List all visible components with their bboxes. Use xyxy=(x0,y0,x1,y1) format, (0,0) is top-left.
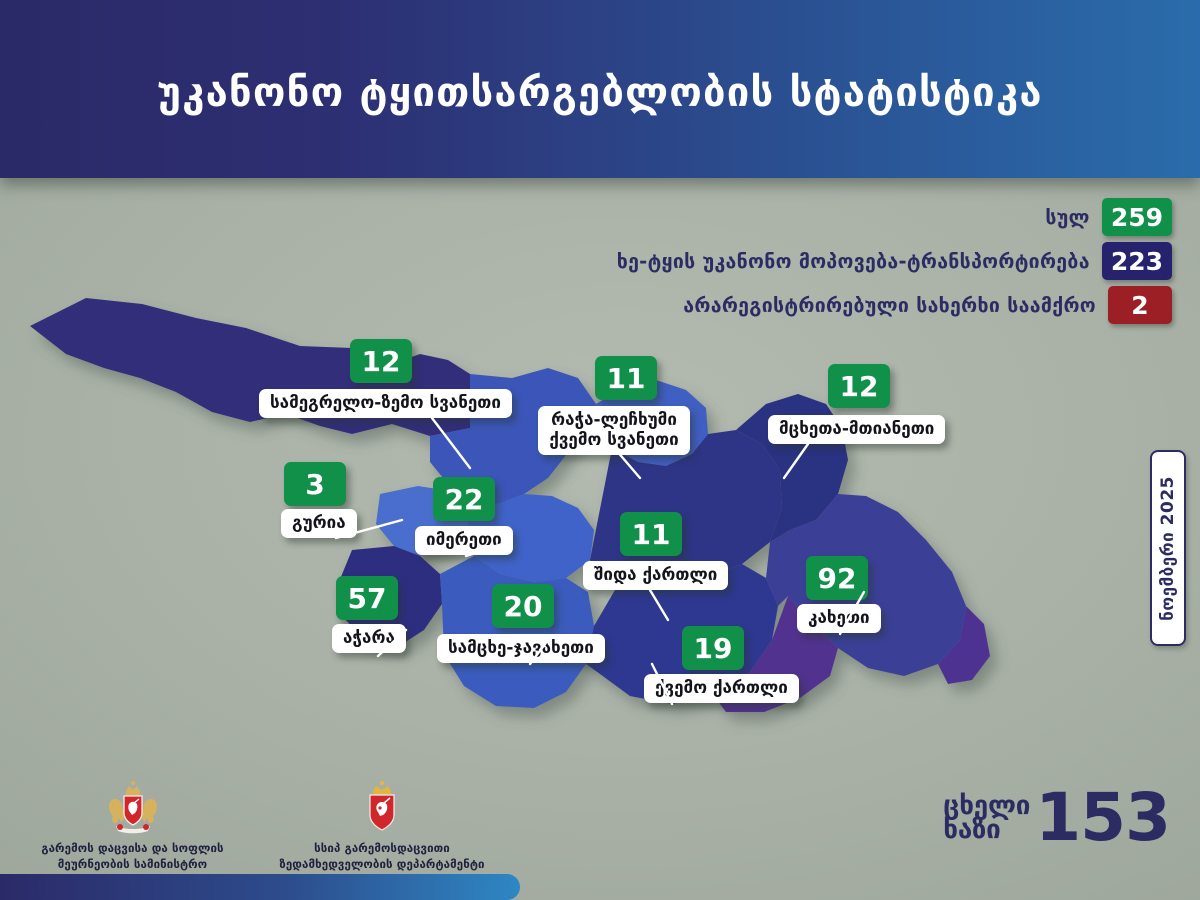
region-label-adjara: აჭარა xyxy=(332,624,406,653)
region-label-samegrelo: სამეგრელო-ზემო სვანეთი xyxy=(259,389,512,418)
region-label-shida-kartli: შიდა ქართლი xyxy=(583,561,728,590)
date-badge: ნოემბერი 2025 xyxy=(1150,450,1186,646)
ministry-caption-line2: მეურნეობის სამინისტრო xyxy=(25,856,240,872)
region-label-guria: გურია xyxy=(281,509,357,538)
ministry-caption: გარემოს დაცვისა და სოფლის მეურნეობის სამ… xyxy=(25,840,240,873)
ministry-caption-line1: გარემოს დაცვისა და სოფლის xyxy=(25,840,240,856)
map-svg xyxy=(0,178,1200,778)
date-badge-text: ნოემბერი 2025 xyxy=(1158,476,1178,621)
region-label-imereti: იმერეთი xyxy=(415,526,513,555)
department-caption-line1: სსიპ გარემოსდაცვითი xyxy=(268,840,496,856)
region-label-mtskheta: მცხეთა-მთიანეთი xyxy=(768,415,945,444)
bottom-accent-bar xyxy=(0,874,520,900)
region-label-racha: რაჭა-ლეჩხუმი ქვემო სვანეთი xyxy=(538,406,690,455)
value-chip-samtskhe: 20 xyxy=(492,584,554,628)
region-label-racha-line2: ქვემო სვანეთი xyxy=(549,430,678,450)
georgia-map: 12 სამეგრელო-ზემო სვანეთი 11 რაჭა-ლეჩხუმ… xyxy=(0,178,1200,778)
ministry-block: გარემოს დაცვისა და სოფლის მეურნეობის სამ… xyxy=(25,778,240,873)
region-samtskhe xyxy=(440,556,594,708)
hotline-number: 153 xyxy=(1035,790,1170,847)
value-chip-shida-kartli: 11 xyxy=(620,512,682,556)
hotline-label-line2: ხაზი xyxy=(943,818,1030,842)
value-chip-mtskheta: 12 xyxy=(828,364,890,408)
department-emblem-icon xyxy=(356,778,408,836)
value-chip-kvemo-kartli: 19 xyxy=(682,626,744,670)
region-label-samtskhe: სამცხე-ჯავახეთი xyxy=(437,634,605,663)
hotline-block: ცხელი ხაზი 153 xyxy=(943,790,1170,847)
value-chip-guria: 3 xyxy=(284,462,346,506)
page-title: უკანონო ტყითსარგებლობის სტატისტიკა xyxy=(157,72,1042,114)
value-chip-imereti: 22 xyxy=(433,477,495,521)
department-caption-line2: ზედამხედველობის დეპარტამენტი xyxy=(268,856,496,872)
value-chip-kakheti: 92 xyxy=(806,556,868,600)
hotline-label: ცხელი ხაზი xyxy=(943,794,1030,842)
region-label-kvemo-kartli: ქვემო ქართლი xyxy=(644,674,799,703)
department-block: სსიპ გარემოსდაცვითი ზედამხედველობის დეპა… xyxy=(268,778,496,873)
value-chip-racha: 11 xyxy=(595,356,657,400)
header-bar: უკანონო ტყითსარგებლობის სტატისტიკა xyxy=(0,0,1200,178)
infographic-page: უკანონო ტყითსარგებლობის სტატისტიკა სულ 2… xyxy=(0,0,1200,900)
georgia-coat-of-arms-icon xyxy=(104,778,162,836)
value-chip-samegrelo: 12 xyxy=(350,339,412,383)
department-caption: სსიპ გარემოსდაცვითი ზედამხედველობის დეპა… xyxy=(268,840,496,873)
region-label-racha-line1: რაჭა-ლეჩხუმი xyxy=(551,410,677,430)
region-label-kakheti: კახეთი xyxy=(797,604,881,633)
value-chip-adjara: 57 xyxy=(336,576,398,620)
